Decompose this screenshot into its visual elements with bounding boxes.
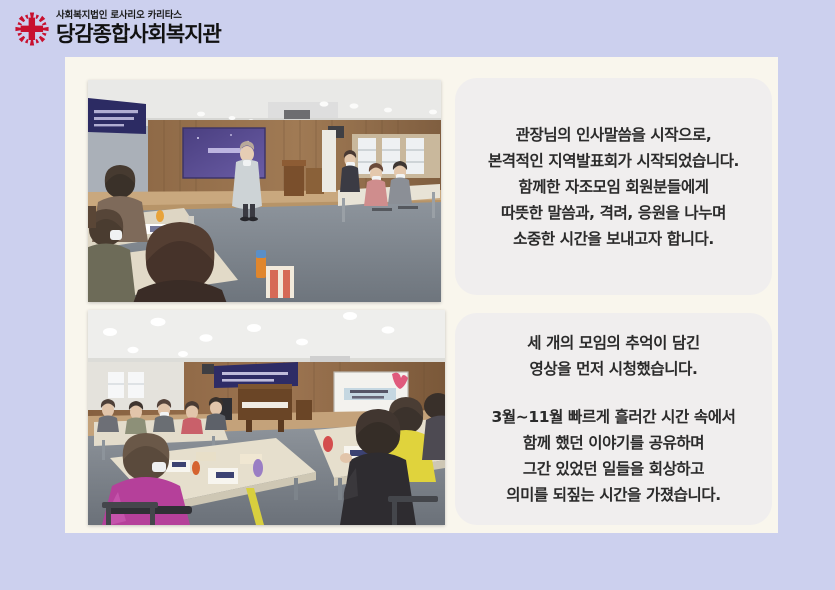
- card-greeting-line-3: 함께한 자조모임 회원분들에게: [518, 174, 708, 200]
- caritas-cross-icon: [14, 11, 50, 47]
- photo-roundtable-meeting: [88, 310, 445, 525]
- card-greeting-line-1: 관장님의 인사말씀을 시작으로,: [516, 122, 712, 148]
- card-video: 세 개의 모임의 추억이 담긴 영상을 먼저 시청했습니다. 3월~11월 빠르…: [455, 313, 772, 525]
- card-video-top-line-2: 영상을 먼저 시청했습니다.: [530, 356, 698, 382]
- card-video-bottom-line-3: 그간 있었던 일들을 회상하고: [523, 456, 704, 482]
- card-greeting-line-5: 소중한 시간을 보내고자 합니다.: [513, 226, 714, 252]
- photo-hall-presentation: [88, 80, 441, 302]
- card-video-bottom-line-2: 함께 했던 이야기를 공유하며: [523, 430, 704, 456]
- card-video-top-line-1: 세 개의 모임의 추억이 담긴: [527, 330, 699, 356]
- card-video-bottom-line-4: 의미를 되짚는 시간을 가졌습니다.: [506, 482, 721, 508]
- page-header: 사회복지법인 로사리오 카리타스 당감종합사회복지관: [0, 0, 835, 57]
- organization-subtitle: 사회복지법인 로사리오 카리타스: [56, 10, 221, 22]
- card-video-bottom-line-1: 3월~11월 빠르게 흘러간 시간 속에서: [492, 404, 736, 430]
- organization-name-block: 사회복지법인 로사리오 카리타스 당감종합사회복지관: [56, 10, 221, 47]
- card-greeting-line-2: 본격적인 지역발표회가 시작되었습니다.: [488, 148, 739, 174]
- content-panel: 관장님의 인사말씀을 시작으로, 본격적인 지역발표회가 시작되었습니다. 함께…: [65, 57, 778, 533]
- card-greeting: 관장님의 인사말씀을 시작으로, 본격적인 지역발표회가 시작되었습니다. 함께…: [455, 78, 772, 295]
- card-greeting-line-4: 따뜻한 말씀과, 격려, 응원을 나누며: [501, 200, 726, 226]
- organization-title: 당감종합사회복지관: [56, 22, 221, 47]
- organization-logo: 사회복지법인 로사리오 카리타스 당감종합사회복지관: [14, 10, 221, 47]
